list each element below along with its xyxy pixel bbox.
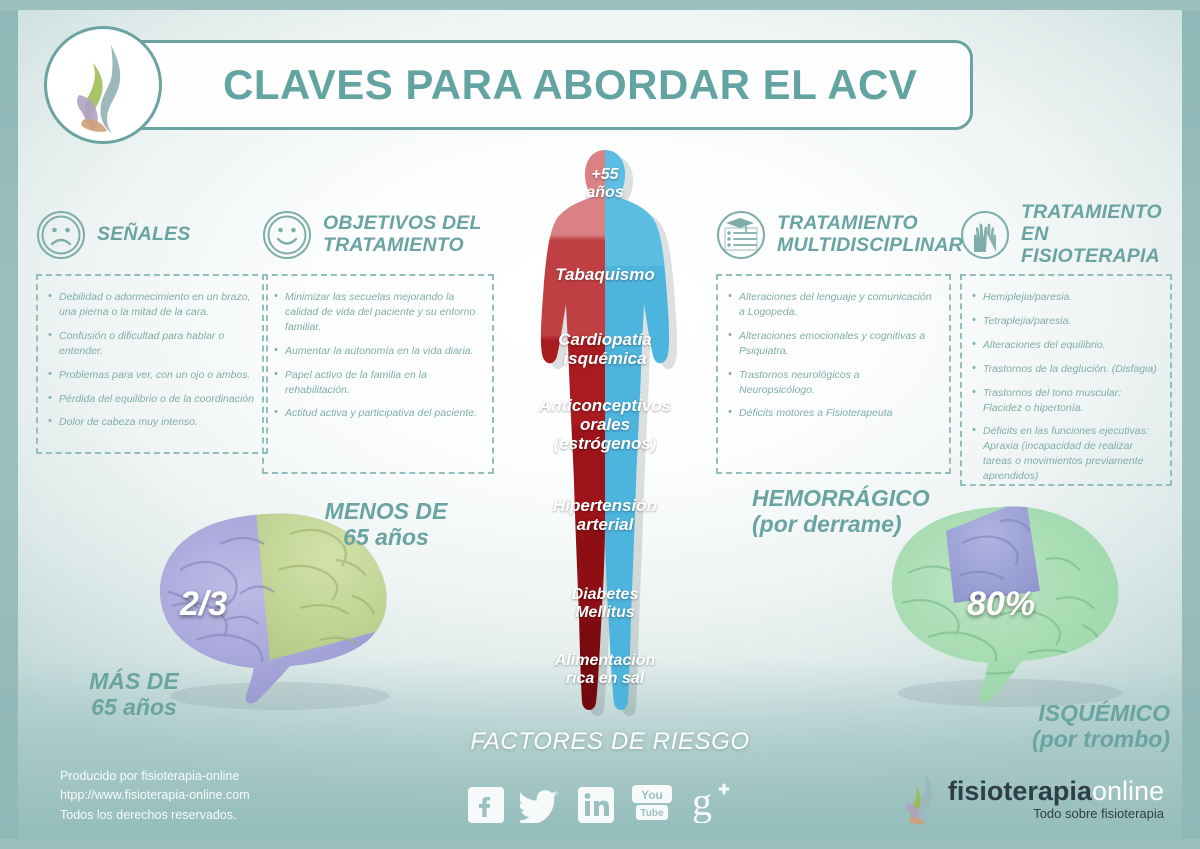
flame-logo-icon [63, 41, 149, 135]
section-list-box: Debilidad o adormecimiento en un brazo, … [36, 274, 268, 454]
hands-icon [960, 210, 1010, 260]
list-item: Actitud activa y participativa del pacie… [274, 406, 480, 421]
graduation-list-icon [716, 210, 766, 260]
brain-left-caption-top: MENOS DE65 años [316, 498, 456, 551]
svg-text:Tube: Tube [640, 808, 664, 819]
section-title: TRATAMIENTO EN FISIOTERAPIA [1021, 202, 1172, 267]
frame-bottom-border [0, 839, 1200, 849]
svg-text:You: You [641, 788, 663, 802]
section-multidisciplinar: TRATAMIENTO MULTIDISCIPLINAR Alteracione… [716, 206, 951, 474]
list-item: Confusión o dificultad para hablar o ent… [48, 329, 254, 359]
frame-left-border [0, 0, 18, 849]
happy-face-icon [262, 210, 312, 260]
brand-logo [44, 26, 162, 144]
section-senales: SEÑALES Debilidad o adormecimiento en un… [36, 206, 268, 454]
list-item: Alteraciones del lenguaje y comunicación… [728, 290, 937, 320]
risk-factors-caption: FACTORES DE RIESGO [430, 728, 790, 756]
section-list-box: Alteraciones del lenguaje y comunicación… [716, 274, 951, 474]
brain-left-stat: 2/3 [180, 585, 227, 624]
title-bar: CLAVES PARA ABORDAR EL ACV [120, 40, 973, 130]
social-links[interactable]: You Tube g [468, 783, 732, 823]
section-header: TRATAMIENTO EN FISIOTERAPIA [960, 206, 1172, 264]
brain-right-stat: 80% [967, 585, 1035, 624]
list-item: Problemas para ver, con un ojo o ambos. [48, 368, 254, 383]
youtube-icon[interactable]: You Tube [630, 783, 674, 823]
list-item: Déficits en las funciones ejecutivas: Ap… [972, 424, 1158, 484]
list-item: Alteraciones emocionales y cognitivas a … [728, 329, 937, 359]
footer-brandmark: fisioterapiaonline Todo sobre fisioterap… [902, 773, 1164, 825]
section-title: OBJETIVOS DEL TRATAMIENTO [323, 213, 494, 257]
brand-name-part2: online [1092, 776, 1164, 806]
brand-name-part1: fisioterapia [948, 776, 1092, 806]
sad-face-icon [36, 210, 86, 260]
list-item: Debilidad o adormecimiento en un brazo, … [48, 290, 254, 320]
section-objetivos: OBJETIVOS DEL TRATAMIENTO Minimizar las … [262, 206, 494, 474]
risk-factors-body-figure: +55años Tabaquismo Cardiopatíaisquémica … [516, 146, 694, 736]
credit-line: Producido por fisioterapia-online [60, 767, 250, 786]
section-header: TRATAMIENTO MULTIDISCIPLINAR [716, 206, 951, 264]
frame-right-border [1182, 0, 1200, 849]
list-item: Trastornos del tono muscular: Flacidez o… [972, 386, 1158, 416]
brain-right-caption-bottom: ISQUÉMICO(por trombo) [1000, 700, 1170, 753]
googleplus-icon[interactable]: g [690, 783, 732, 823]
header: CLAVES PARA ABORDAR EL ACV [44, 26, 974, 144]
infographic-canvas: CLAVES PARA ABORDAR EL ACV SEÑALES [0, 0, 1200, 849]
section-list-box: Minimizar las secuelas mejorando la cali… [262, 274, 494, 474]
credit-line: htpp://www.fisioterapia-online.com [60, 786, 250, 805]
list-item: Papel activo de la familia en la rehabil… [274, 368, 480, 398]
credit-line: Todos los derechos reservados. [60, 806, 250, 825]
list-item: Dolor de cabeza muy intenso. [48, 415, 254, 430]
footer-credits: Producido por fisioterapia-online htpp:/… [60, 767, 250, 825]
svg-text:g: g [692, 783, 712, 823]
brain-left-caption-bottom: MÁS DE65 años [74, 668, 194, 721]
list-item: Trastornos neurológicos a Neuropsicólogo… [728, 368, 937, 398]
linkedin-icon[interactable] [578, 787, 614, 823]
flame-logo-icon [902, 773, 942, 825]
brand-text: fisioterapiaonline Todo sobre fisioterap… [948, 777, 1164, 821]
list-item: Pérdida del equilibrio o de la coordinac… [48, 392, 254, 407]
human-silhouette [516, 146, 694, 736]
brain-right-caption-top: HEMORRÁGICO(por derrame) [752, 485, 952, 538]
section-list-box: Hemiplejia/paresia. Tetraplejia/paresia.… [960, 274, 1172, 486]
section-header: OBJETIVOS DEL TRATAMIENTO [262, 206, 494, 264]
facebook-icon[interactable] [468, 787, 504, 823]
page-title: CLAVES PARA ABORDAR EL ACV [223, 61, 917, 109]
list-item: Aumentar la autonomía en la vida diaria. [274, 344, 480, 359]
list-item: Trastornos de la deglución. (Disfagia) [972, 362, 1158, 377]
frame-top-border [0, 0, 1200, 10]
list-item: Alteraciones del equilibrio. [972, 338, 1158, 353]
list-item: Minimizar las secuelas mejorando la cali… [274, 290, 480, 335]
section-title: TRATAMIENTO MULTIDISCIPLINAR [777, 213, 963, 257]
list-item: Tetraplejia/paresia. [972, 314, 1158, 329]
section-header: SEÑALES [36, 206, 268, 264]
section-fisioterapia: TRATAMIENTO EN FISIOTERAPIA Hemiplejia/p… [960, 206, 1172, 486]
section-title: SEÑALES [97, 224, 191, 246]
list-item: Hemiplejia/paresia. [972, 290, 1158, 305]
twitter-icon[interactable] [520, 787, 562, 823]
list-item: Déficits motores a Fisioterapeuta [728, 406, 937, 421]
brand-tagline: Todo sobre fisioterapia [948, 807, 1164, 821]
